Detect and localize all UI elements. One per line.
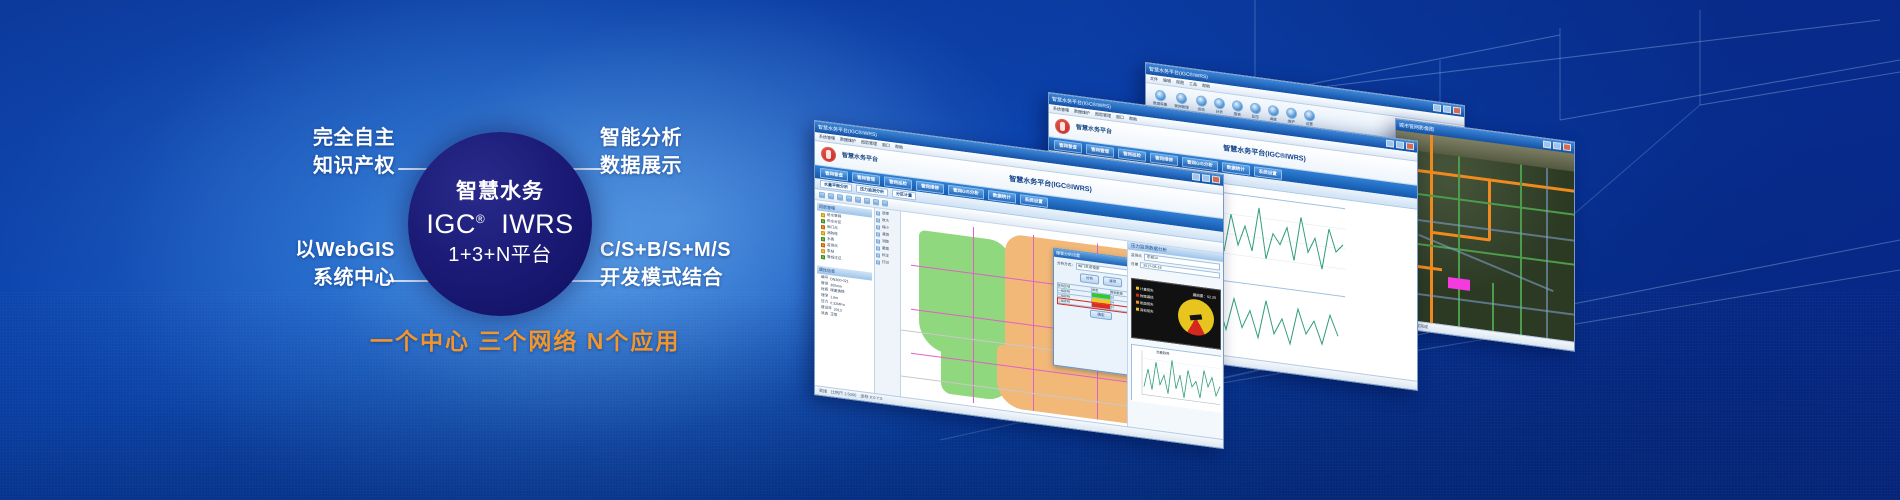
banner-tagline: 一个中心 三个网络 N个应用 [370, 322, 680, 356]
zoom-out-tool-icon[interactable] [837, 194, 843, 201]
menu-item[interactable]: 编辑 [1163, 77, 1171, 84]
ribbon-icon [1286, 107, 1297, 119]
layer-item-label: 水表 [827, 237, 834, 243]
pie-legend-item: 计量损失 [1136, 286, 1154, 293]
map-tool-label: 标注 [882, 253, 889, 259]
ribbon-icon [1268, 105, 1279, 117]
banner-root: 智慧水务平台(IGC®IWRS) 文件 编辑 视图 工具 帮助 数据采集 管网管… [0, 0, 1900, 500]
ribbon-button[interactable]: 监控 [1250, 102, 1261, 120]
attribute-key: 埋深 [821, 293, 828, 299]
layer-item-label: 管线注记 [827, 255, 841, 262]
menu-item[interactable]: 窗口 [1116, 114, 1124, 121]
feature-label-line: 数据展示 [600, 152, 682, 180]
menu-item[interactable]: 工具 [1189, 81, 1197, 88]
attribute-key: 压力 [821, 299, 828, 305]
window-map[interactable]: 城市管网影像图 [1395, 118, 1575, 352]
window-front[interactable]: 智慧水务平台(IGC®IWRS) 系统管理 数据维护 图层管理 窗口 帮助 智慧… [814, 120, 1224, 449]
layer-panel[interactable]: 图层管理 给水管网 供水分区 阀门点 消防栓 水表 监测点 泵站 管线注记 属性… [815, 200, 875, 402]
tool-icon [876, 225, 880, 230]
ribbon-icon [1304, 109, 1315, 121]
ribbon-button[interactable]: 报表 [1232, 100, 1243, 118]
legend-label: 计量损失 [1140, 287, 1154, 293]
brand-text: 智慧水务平台 [842, 153, 878, 165]
pie-slices [1178, 297, 1214, 338]
layer-swatch-icon [821, 212, 825, 217]
legend-label: 其他损失 [1140, 308, 1154, 314]
tool-icon [876, 260, 880, 265]
layer-swatch-icon [821, 254, 825, 259]
monitor-point-label: 监测点 [1131, 253, 1142, 259]
menu-item[interactable]: 帮助 [895, 144, 903, 151]
layer-item-label: 泵站 [827, 249, 834, 255]
trend-chart-middle [1205, 190, 1345, 288]
hub-title-cn: 智慧水务 [456, 180, 544, 205]
statusbar-text: 比例尺 1:5000 [831, 389, 856, 398]
map-tool-label: 缩小 [882, 225, 889, 231]
pan-tool-icon[interactable] [846, 195, 852, 202]
menu-item[interactable]: 视图 [1176, 79, 1184, 86]
ribbon-icon [1214, 97, 1225, 109]
map-pipeline [1033, 235, 1034, 411]
pie-legend-item: 账面损失 [1136, 300, 1154, 307]
burst-analysis-dialog[interactable]: 爆管分析设置 分析方式： 阀门关闭搜索 分析 清除 [1053, 248, 1127, 379]
menu-item[interactable]: 帮助 [1129, 116, 1137, 123]
layer-swatch-icon [821, 242, 825, 247]
hub-brand-igc: IGC [426, 209, 476, 239]
feature-label-line: 知识产权 [175, 152, 395, 180]
ribbon-icon [1155, 89, 1166, 101]
hub-brand-iwrs: IWRS [501, 209, 574, 239]
zoom-in-tool-icon[interactable] [828, 193, 834, 200]
area-tool-icon[interactable] [864, 198, 870, 205]
layer-swatch-icon [821, 218, 825, 223]
hub-subtitle: 1+3+N平台 [448, 244, 552, 268]
impact-color-swatch [1092, 302, 1110, 309]
ribbon-icon [1176, 92, 1187, 104]
legend-swatch-icon [1136, 301, 1139, 304]
pie-legend-item: 其他损失 [1136, 307, 1154, 314]
tool-icon [876, 253, 880, 258]
attribute-value: 2013 [834, 307, 842, 312]
leakage-pie-chart: 计量损失 物理漏损 账面损失 [1131, 278, 1221, 350]
attribute-key: 材质 [821, 287, 828, 293]
feature-label-bottom-left: 以WebGIS 系统中心 [175, 236, 395, 293]
feature-label-line: C/S+B/S+M/S [600, 236, 731, 264]
central-hub-circle: 智慧水务 IGC® IWRS 1+3+N平台 [408, 132, 592, 316]
map-tool[interactable]: 打印 [876, 259, 899, 267]
menu-item[interactable]: 文件 [1150, 76, 1158, 83]
tool-icon [876, 239, 880, 244]
impact-count: 57 [1110, 305, 1127, 315]
feature-label-line: 以WebGIS [175, 236, 395, 264]
ribbon-icon [1196, 95, 1207, 107]
legend-swatch-icon [1136, 287, 1139, 290]
statusbar-text: 就绪 [819, 388, 827, 395]
menu-item[interactable]: 图层管理 [1095, 111, 1111, 119]
menu-item[interactable]: 系统管理 [1053, 106, 1069, 114]
map-tool-label: 漫游 [882, 232, 889, 238]
attribute-key: 状态 [821, 311, 828, 317]
feature-label-line: 完全自主 [175, 124, 395, 152]
ribbon-icon [1232, 100, 1243, 112]
ribbon-button[interactable]: 分析 [1214, 97, 1225, 115]
date-label: 日期 [1131, 261, 1138, 267]
attribute-value: 1.6m [830, 295, 838, 300]
label-tool-icon[interactable] [873, 199, 879, 206]
ribbon-button[interactable]: 巡检 [1196, 95, 1207, 113]
map-tool-label: 量面 [882, 246, 889, 252]
statusbar-text: 坐标 X:0 Y:0 [860, 393, 882, 402]
pie-legend-item: 物理漏损 [1136, 293, 1154, 300]
map-tool-label: 选择 [882, 211, 889, 217]
map-tool-label: 放大 [882, 218, 889, 224]
brand-text: 智慧水务平台 [1076, 125, 1112, 137]
legend-swatch-icon [1136, 294, 1139, 297]
layer-swatch-icon [821, 248, 825, 253]
attribute-key: 编号 [821, 275, 828, 281]
company-logo-icon [1055, 118, 1070, 135]
tool-icon [876, 246, 880, 251]
menu-item[interactable]: 数据维护 [840, 136, 856, 144]
map-tool-strip[interactable]: 选择 放大 缩小 漫游 测距 量面 标注 打印 [875, 208, 901, 405]
attribute-key: 管径 [821, 281, 828, 287]
feature-label-top-right: 智能分析 数据展示 [600, 124, 682, 181]
hub-title-en: IGC® IWRS [426, 209, 573, 241]
print-tool-icon[interactable] [882, 200, 888, 207]
feature-label-line: 智能分析 [600, 124, 682, 152]
company-logo-icon [821, 146, 836, 163]
legend-label: 账面损失 [1140, 301, 1154, 307]
menu-item[interactable]: 窗口 [882, 142, 890, 149]
layer-swatch-icon [821, 236, 825, 241]
legend-label: 物理漏损 [1140, 294, 1154, 300]
menu-item[interactable]: 帮助 [1202, 83, 1210, 90]
layer-swatch-icon [821, 224, 825, 229]
attribute-value: 正常 [830, 312, 837, 318]
dialog-field-label: 分析方式： [1057, 261, 1075, 268]
map-tool-label: 打印 [882, 260, 889, 266]
tool-icon [876, 218, 880, 223]
select-tool-icon[interactable] [819, 192, 825, 199]
tool-icon [876, 211, 880, 216]
feature-label-bottom-right: C/S+B/S+M/S 开发模式结合 [600, 236, 731, 293]
menu-item[interactable]: 系统管理 [819, 134, 835, 142]
layer-swatch-icon [821, 230, 825, 235]
trend-chart-middle-2 [1205, 278, 1345, 366]
menu-item[interactable]: 数据维护 [1074, 108, 1090, 116]
feature-label-line: 开发模式结合 [600, 264, 731, 292]
map-pipeline [973, 227, 974, 403]
map-tool-label: 测距 [882, 239, 889, 245]
dialog-confirm-button[interactable]: 确定 [1090, 309, 1111, 320]
measure-tool-icon[interactable] [855, 196, 861, 203]
registered-trademark-icon: ® [476, 212, 485, 226]
satellite-map-canvas[interactable] [1396, 130, 1574, 341]
clear-button[interactable]: 清除 [1103, 276, 1122, 288]
ribbon-icon [1250, 102, 1261, 114]
feature-label-top-left: 完全自主 知识产权 [175, 124, 395, 181]
analyze-button[interactable]: 分析 [1080, 273, 1099, 285]
analysis-panel[interactable]: 压力监测数据分析 监测点 东城1# 日期 2017-08-16 [1127, 241, 1223, 448]
feature-label-line: 系统中心 [175, 264, 395, 292]
tool-icon [876, 232, 880, 237]
flow-trend-chart: 流量趋势 [1131, 344, 1221, 412]
dialog-body: 分析方式： 阀门关闭搜索 分析 清除 影响区域 颜色 管段数量 [1054, 257, 1127, 327]
menu-item[interactable]: 图层管理 [861, 139, 877, 147]
legend-swatch-icon [1136, 308, 1139, 311]
